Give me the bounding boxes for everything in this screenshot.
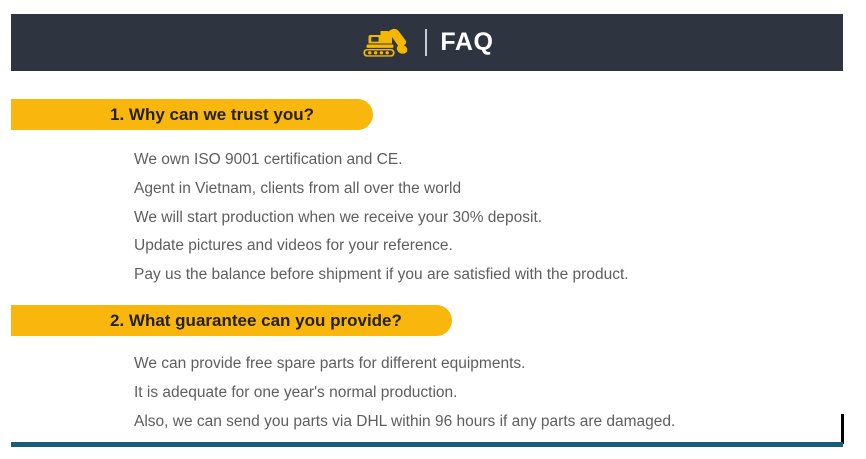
page-title: FAQ — [440, 30, 493, 55]
faq-answer-list-1: We own ISO 9001 certification and CE. Ag… — [134, 146, 629, 290]
faq-answer-line: Also, we can send you parts via DHL with… — [134, 408, 675, 437]
header-bar: FAQ — [11, 14, 843, 71]
bottom-corner-tick — [841, 414, 844, 444]
faq-answer-line: Agent in Vietnam, clients from all over … — [134, 175, 629, 204]
excavator-icon — [360, 26, 412, 60]
header-content: FAQ — [360, 26, 493, 60]
faq-question-banner-2[interactable]: 2. What guarantee can you provide? — [11, 305, 452, 336]
faq-page: FAQ 1. Why can we trust you? We own ISO … — [0, 0, 866, 459]
faq-answer-list-2: We can provide free spare parts for diff… — [134, 350, 675, 436]
faq-answer-line: Update pictures and videos for your refe… — [134, 232, 629, 261]
faq-question-label-1: 1. Why can we trust you? — [11, 105, 314, 125]
faq-question-banner-1[interactable]: 1. Why can we trust you? — [11, 99, 373, 130]
faq-answer-line: We own ISO 9001 certification and CE. — [134, 146, 629, 175]
faq-question-label-2: 2. What guarantee can you provide? — [11, 311, 402, 331]
faq-answer-line: It is adequate for one year's normal pro… — [134, 379, 675, 408]
faq-answer-line: We can provide free spare parts for diff… — [134, 350, 675, 379]
faq-answer-line: We will start production when we receive… — [134, 204, 629, 233]
bottom-divider-rule — [11, 442, 843, 447]
header-divider-icon — [425, 29, 427, 56]
faq-answer-line: Pay us the balance before shipment if yo… — [134, 261, 629, 290]
